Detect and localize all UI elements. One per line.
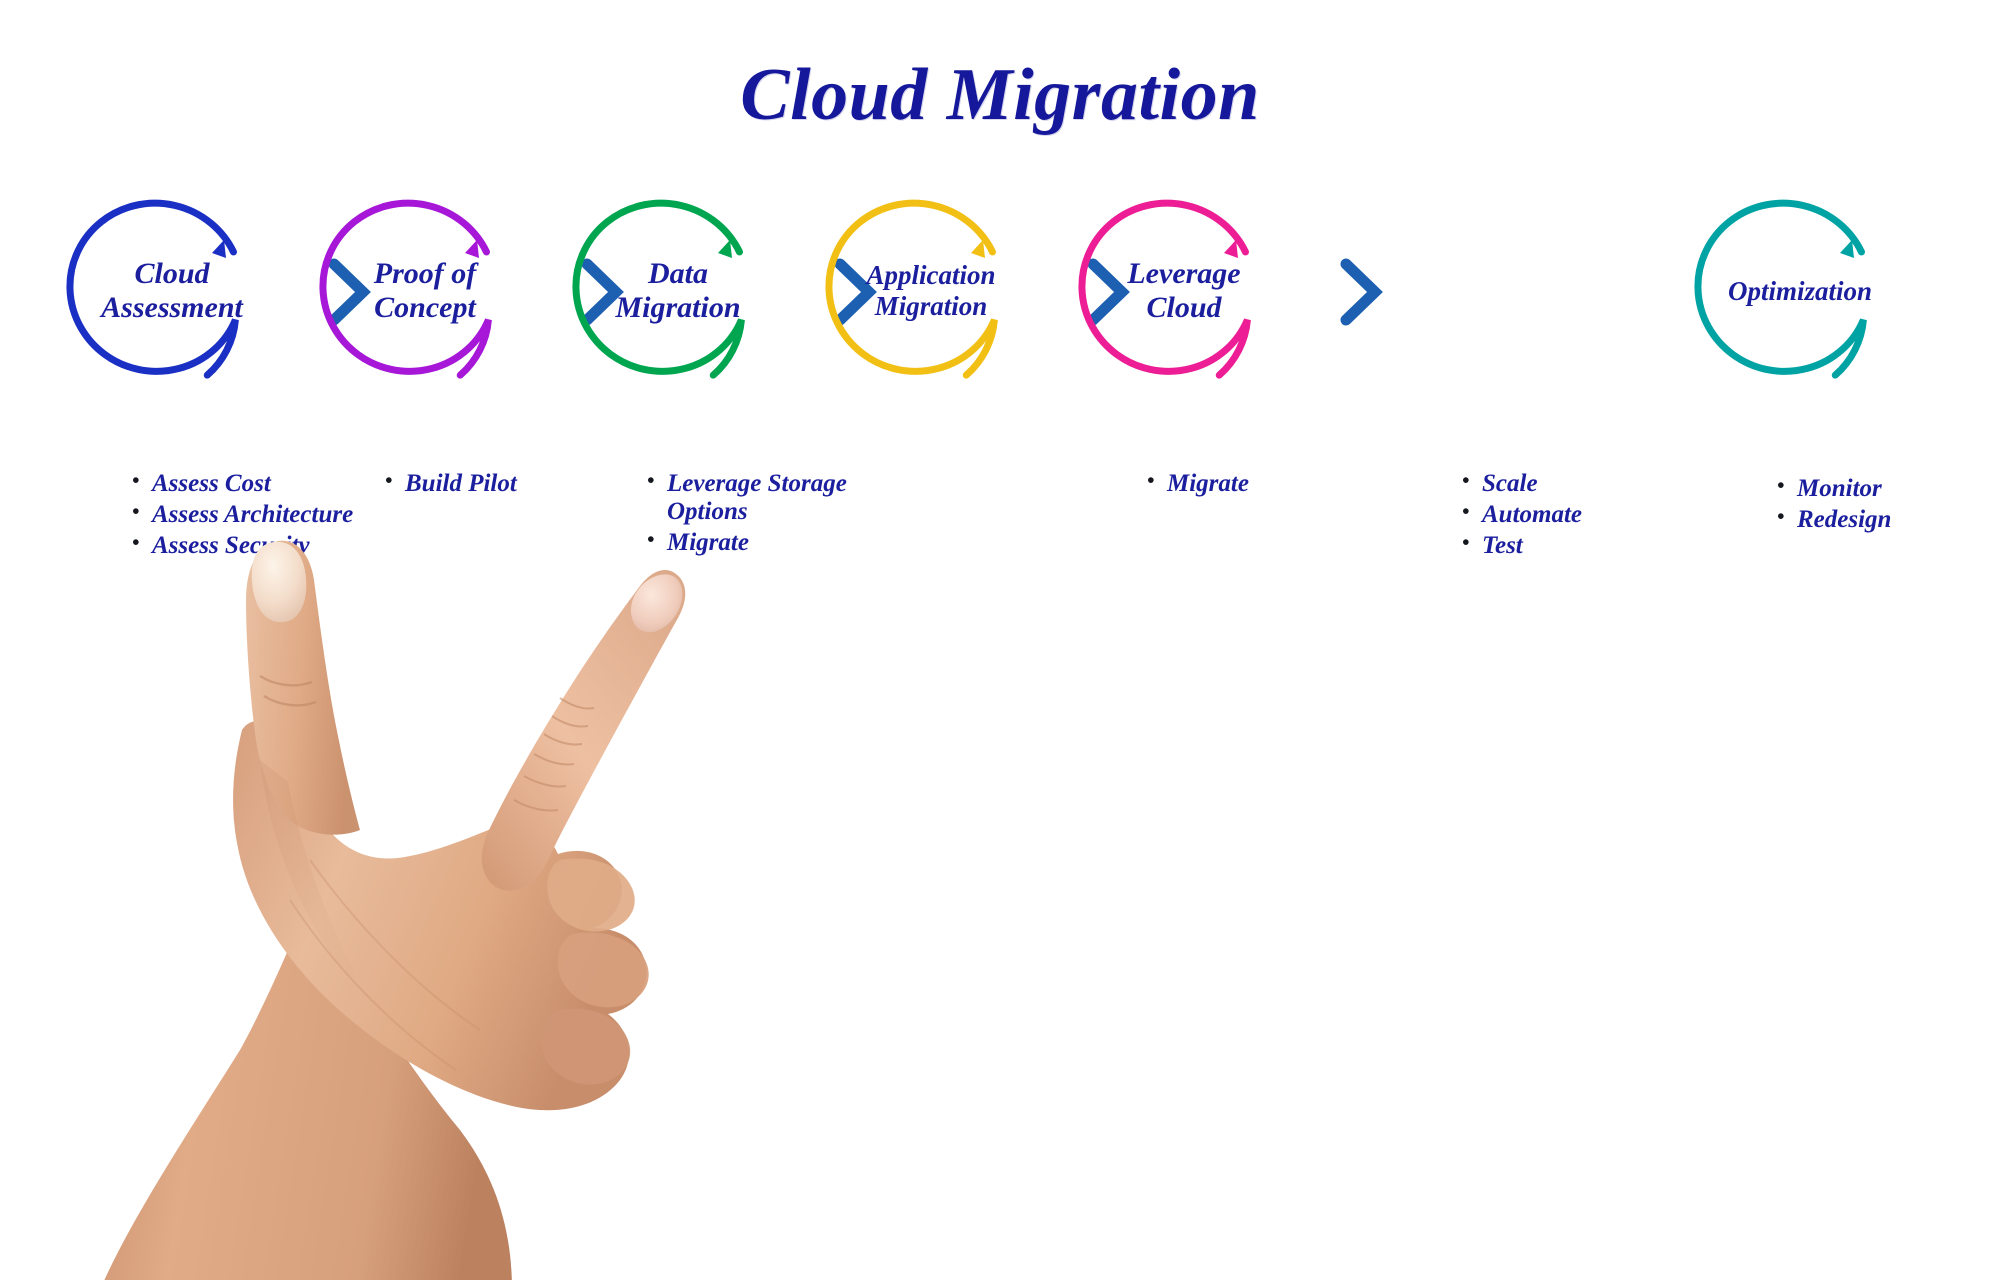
circular-arrow-icon	[1700, 196, 1900, 386]
list-item: Build Pilot	[383, 470, 603, 498]
list-item: Migrate	[1145, 470, 1365, 498]
circular-arrow-icon	[325, 196, 525, 386]
list-item: Automate	[1460, 501, 1680, 529]
stage-node-proof-of-concept[interactable]: Proof of Concept	[325, 196, 525, 386]
stage-node-cloud-assessment[interactable]: Cloud Assessment	[72, 196, 272, 386]
stage-bullets-proof-of-concept: Build Pilot	[383, 470, 603, 501]
stage-bullets-data-migration: Leverage Storage Options Migrate	[645, 470, 905, 560]
stage-bullets-cloud-assessment: Assess Cost Assess Architecture Assess S…	[130, 470, 410, 563]
circular-arrow-icon	[72, 196, 272, 386]
stage-node-optimization[interactable]: Optimization	[1700, 196, 1900, 386]
page-title: Cloud Migration	[0, 58, 2000, 132]
stage-bullets-application-migration: Migrate	[1145, 470, 1365, 501]
list-item: Monitor	[1775, 475, 1995, 503]
list-item: Assess Cost	[130, 470, 410, 498]
list-item: Assess Architecture	[130, 501, 410, 529]
circular-arrow-icon	[831, 196, 1031, 386]
circular-arrow-icon	[1084, 196, 1284, 386]
stage-node-application-migration[interactable]: Application Migration	[831, 196, 1031, 386]
list-item: Migrate	[645, 529, 905, 557]
list-item: Scale	[1460, 470, 1680, 498]
list-item: Assess Security	[130, 532, 410, 560]
list-item: Redesign	[1775, 506, 1995, 534]
list-item: Test	[1460, 532, 1680, 560]
list-item: Leverage Storage Options	[645, 470, 905, 526]
diagram-canvas: Cloud Migration Cloud Assessment Assess …	[0, 0, 2000, 1280]
stage-bullets-optimization: Monitor Redesign	[1775, 475, 1995, 537]
stage-node-leverage-cloud[interactable]: Leverage Cloud	[1084, 196, 1284, 386]
circular-arrow-icon	[578, 196, 778, 386]
stage-bullets-leverage-cloud: Scale Automate Test	[1460, 470, 1680, 563]
chevron-right-icon	[1337, 258, 1383, 326]
stage-node-data-migration[interactable]: Data Migration	[578, 196, 778, 386]
